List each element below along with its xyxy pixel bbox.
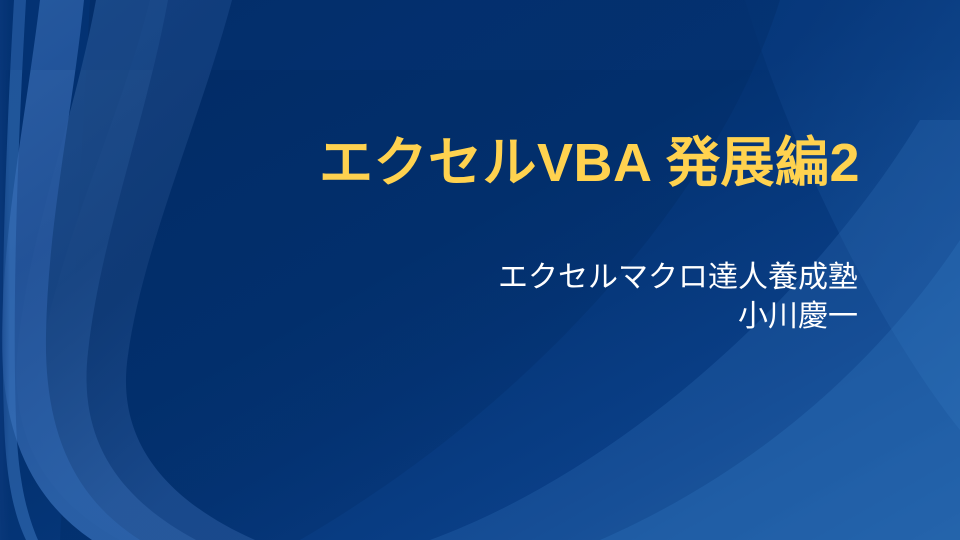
subtitle-line-organization: エクセルマクロ達人養成塾: [300, 258, 858, 297]
subtitle-block: エクセルマクロ達人養成塾 小川慶一: [300, 258, 858, 336]
subtitle-line-author: 小川慶一: [300, 297, 858, 336]
title-slide: エクセルVBA 発展編2 エクセルマクロ達人養成塾 小川慶一: [0, 0, 960, 540]
page-title: エクセルVBA 発展編2: [120, 132, 860, 195]
title-block: エクセルVBA 発展編2: [120, 132, 860, 195]
slide-text-layer: エクセルVBA 発展編2 エクセルマクロ達人養成塾 小川慶一: [0, 0, 960, 540]
